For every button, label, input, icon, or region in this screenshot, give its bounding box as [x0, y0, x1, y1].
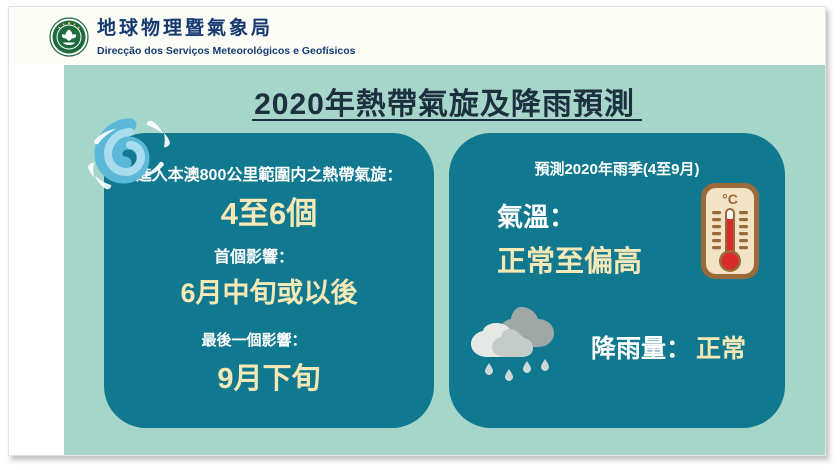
first-impact-label: 首個影響：: [104, 243, 404, 267]
smg-circular-emblem-icon: [49, 17, 89, 57]
header-bar: 地球物理暨氣象局 Direcção dos Serviços Meteoroló…: [9, 7, 825, 65]
rainfall-label: 降雨量：: [591, 329, 691, 365]
rainy-season-heading: 預測2020年雨季(4至9月): [449, 158, 785, 179]
first-impact-value: 6月中旬或以後: [104, 271, 434, 310]
rain-cloud-icon: [459, 293, 589, 393]
last-impact-label: 最後一個影響：: [104, 329, 404, 350]
temperature-label: 氣溫：: [497, 197, 575, 234]
rainy-season-forecast-panel: 預測2020年雨季(4至9月) 氣溫： 正常至偏高 降雨量： 正常 °C: [449, 133, 785, 428]
poster-body: 2020年熱帶氣旋及降雨預測 進入本澳800公里範圍内之熱帶氣旋： 4至6個 首…: [64, 65, 825, 455]
thermometer-celsius-icon: °C: [699, 181, 761, 281]
title-underline: [252, 119, 642, 121]
org-name-portuguese: Direcção dos Serviços Meteorológicos e G…: [97, 45, 356, 57]
last-impact-value: 9月下旬: [104, 355, 434, 397]
left-white-margin: [9, 65, 65, 455]
poster-frame: 地球物理暨氣象局 Direcção dos Serviços Meteoroló…: [8, 6, 826, 456]
tropical-cyclone-spiral-icon: [80, 105, 180, 205]
rainfall-value: 正常: [696, 329, 746, 365]
temperature-value: 正常至偏高: [497, 238, 642, 280]
org-name-chinese: 地球物理暨氣象局: [97, 18, 273, 40]
thermometer-unit-text: °C: [722, 191, 738, 207]
